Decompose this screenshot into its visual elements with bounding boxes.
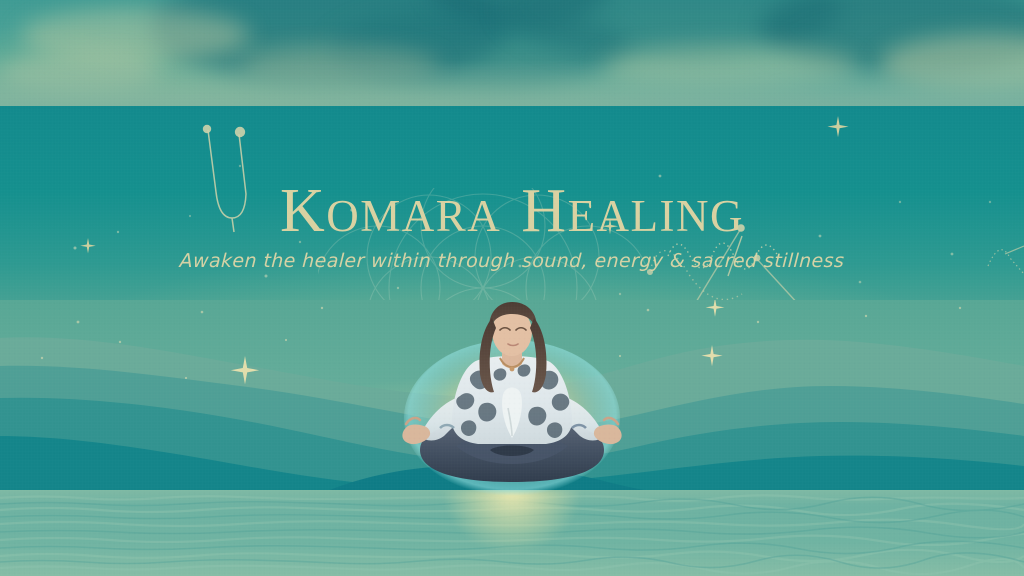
banner-image: KOMARAHEALING Awaken the healer within t…	[0, 0, 1024, 576]
sparkle-star	[706, 300, 725, 317]
page-title: KOMARAHEALING	[0, 180, 1024, 242]
title-word2-rest: EALING	[568, 191, 744, 241]
sparkle-star	[231, 356, 259, 384]
figure-silhouette	[386, 300, 638, 505]
sky-band	[0, 0, 1024, 106]
title-word1-initial: K	[280, 177, 326, 245]
title-word1-rest: OMARA	[326, 191, 501, 241]
meditating-figure	[386, 300, 638, 505]
star-dot	[203, 125, 211, 133]
sparkle-star	[701, 345, 722, 366]
title-word2-initial: H	[521, 177, 567, 245]
sky-haze	[0, 60, 1024, 106]
star-dot	[235, 127, 245, 137]
tagline: Awaken the healer within through sound, …	[0, 250, 1024, 272]
